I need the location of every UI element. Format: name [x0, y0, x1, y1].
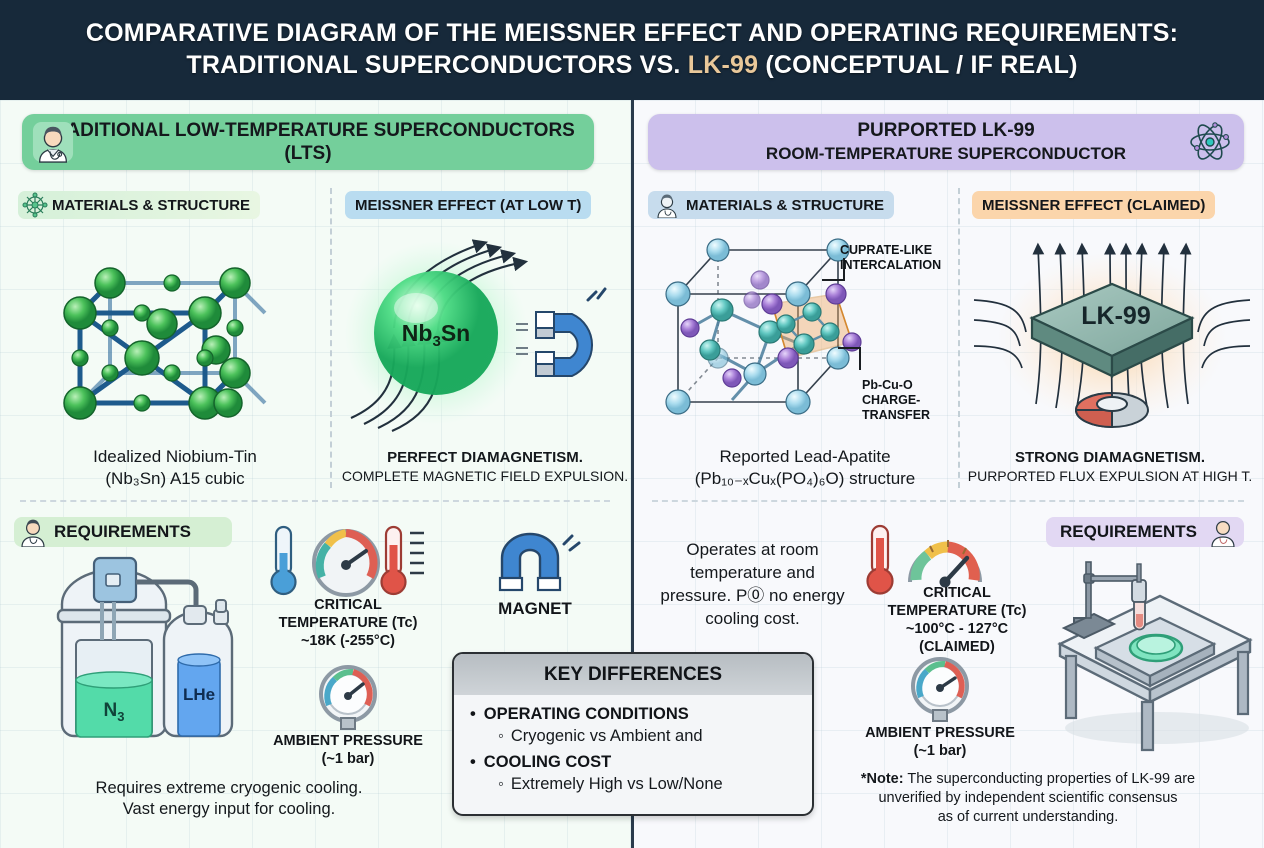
footer-lts: Requires extreme cryogenic cooling. Vast…	[24, 778, 434, 820]
separator-lk99-horizontal	[652, 500, 1244, 502]
thermometer-hot-icon	[382, 527, 425, 594]
badge-lk99-requirements-label: REQUIREMENTS	[1060, 522, 1197, 542]
panel-header-lk99: PURPORTED LK-99 ROOM-TEMPERATURE SUPERCO…	[648, 114, 1244, 170]
metric-lk99-pressure-value: (~1 bar)	[850, 742, 1030, 760]
magnet-icon	[536, 289, 605, 376]
callout-charge-l3: TRANSFER	[862, 408, 950, 423]
metric-lts-pressure-value: (~1 bar)	[258, 750, 438, 768]
key-difference-item: COOLING COST Extremely High vs Low/None	[470, 751, 812, 795]
rt-l1: Operates at room	[650, 538, 855, 561]
callout-cuprate-l1: CUPRATE-LIKE	[840, 243, 950, 258]
key-difference-term: COOLING COST	[470, 751, 812, 773]
caption-lts-meissner-l1: PERFECT DIAMAGNETISM.	[340, 448, 630, 467]
metric-lts-magnet: MAGNET	[480, 600, 590, 618]
callout-cuprate-l2: INTERCALATION	[840, 258, 950, 273]
note-l1: The superconducting properties of LK-99 …	[904, 771, 1196, 787]
panel-header-lk99-line2: ROOM-TEMPERATURE SUPERCONDUCTOR	[766, 142, 1126, 165]
scientist-avatar-icon	[32, 121, 74, 163]
temperature-gauge-icon	[314, 531, 378, 595]
caption-lts-meissner-l2: COMPLETE MAGNETIC FIELD EXPULSION.	[340, 467, 630, 485]
caption-lts-materials-l1: Idealized Niobium-Tin	[30, 446, 320, 468]
panel-header-lk99-line1: PURPORTED LK-99	[766, 119, 1126, 142]
metric-lts-critical-temperature: CRITICAL TEMPERATURE (Tc) ~18K (-255°C)	[258, 596, 438, 650]
metric-lk99-tc-l2: TEMPERATURE (Tc)	[862, 602, 1052, 620]
lk99-meissner-diagram: LK-99	[964, 228, 1260, 443]
badge-lts-meissner: MEISSNER EFFECT (AT LOW T)	[345, 191, 591, 219]
metric-lk99-pressure-label: AMBIENT PRESSURE	[850, 724, 1030, 742]
badge-lk99-meissner: MEISSNER EFFECT (CLAIMED)	[972, 191, 1215, 219]
footer-lts-l1: Requires extreme cryogenic cooling.	[24, 778, 434, 799]
caption-lts-meissner: PERFECT DIAMAGNETISM. COMPLETE MAGNETIC …	[340, 448, 630, 485]
caption-lk99-meissner-l1: STRONG DIAMAGNETISM.	[962, 448, 1258, 467]
key-difference-detail: Extremely High vs Low/None	[470, 773, 812, 795]
title-line-2-suffix: (CONCEPTUAL / IF REAL)	[758, 51, 1077, 79]
caption-lk99-meissner-l2: PURPORTED FLUX EXPULSION AT HIGH T.	[962, 467, 1258, 485]
caption-lts-materials-l2: (Nb₃Sn) A15 cubic	[30, 468, 320, 490]
metric-lts-tc-value: ~18K (-255°C)	[258, 632, 438, 650]
key-difference-term: OPERATING CONDITIONS	[470, 703, 812, 725]
badge-lts-materials: MATERIALS & STRUCTURE	[18, 191, 260, 219]
key-differences-title: KEY DIFFERENCES	[454, 654, 812, 695]
callout-charge-l1: Pb-Cu-O	[862, 378, 950, 393]
dewar-he-label: LHe	[183, 685, 215, 704]
footer-lk99-note: *Note: The superconducting properties of…	[828, 770, 1228, 827]
metric-lts-pressure-label: AMBIENT PRESSURE	[258, 732, 438, 750]
key-difference-item: OPERATING CONDITIONS Cryogenic vs Ambien…	[470, 703, 812, 747]
note-l2: unverified by independent scientific con…	[828, 789, 1228, 808]
badge-lk99-materials: MATERIALS & STRUCTURE	[648, 191, 894, 219]
callout-charge-transfer: Pb-Cu-O CHARGE- TRANSFER	[862, 378, 950, 423]
separator-lts-horizontal	[20, 500, 610, 502]
cryostat-dewar-diagram: N3 LHe	[28, 548, 248, 763]
metric-lts-magnet-label: MAGNET	[480, 600, 590, 618]
panel-header-lk99-title: PURPORTED LK-99 ROOM-TEMPERATURE SUPERCO…	[766, 119, 1126, 165]
infographic-root: COMPARATIVE DIAGRAM OF THE MEISSNER EFFE…	[0, 0, 1264, 848]
separator-lk99-vertical	[958, 188, 960, 488]
footer-lts-l2: Vast energy input for cooling.	[24, 799, 434, 820]
page-title-bar: COMPARATIVE DIAGRAM OF THE MEISSNER EFFE…	[0, 0, 1264, 100]
badge-lk99-requirements: REQUIREMENTS	[1046, 517, 1244, 547]
badge-lts-requirements: REQUIREMENTS	[14, 517, 232, 547]
caption-lk99-materials: Reported Lead-Apatite (Pb₁₀₋ₓCuₓ(PO₄)₆O)…	[652, 446, 958, 490]
svg-text:LK-99: LK-99	[1081, 302, 1150, 330]
ring-magnet-icon	[1076, 393, 1148, 427]
metric-lk99-critical-temperature: CRITICAL TEMPERATURE (Tc) ~100°C - 127°C…	[862, 584, 1052, 656]
rt-l2: temperature and	[650, 561, 855, 584]
molecule-icon	[22, 192, 48, 218]
scientist-avatar-icon	[18, 517, 48, 547]
metric-lk99-tc-l1: CRITICAL	[862, 584, 1052, 602]
rt-l3: pressure. P⓪ no energy	[650, 584, 855, 607]
rt-l4: cooling cost.	[650, 607, 855, 630]
lab-bench-diagram	[1052, 552, 1258, 752]
panel-header-lts-title: TRADITIONAL LOW-TEMPERATURE SUPERCONDUCT…	[22, 119, 594, 165]
pressure-gauge-icon	[313, 664, 383, 730]
text-lk99-room-temperature: Operates at room temperature and pressur…	[650, 538, 855, 630]
badge-lk99-materials-label: MATERIALS & STRUCTURE	[686, 197, 884, 214]
nb3sn-lattice-diagram	[40, 228, 320, 443]
scientist-avatar-icon	[654, 192, 680, 218]
caption-lts-materials: Idealized Niobium-Tin (Nb₃Sn) A15 cubic	[30, 446, 320, 490]
caption-lk99-materials-l1: Reported Lead-Apatite	[652, 446, 958, 468]
atom-icon	[1188, 120, 1232, 164]
temperature-gauge-icon	[910, 540, 980, 588]
metric-lts-tc-l1: CRITICAL	[258, 596, 438, 614]
key-difference-detail: Cryogenic vs Ambient and	[470, 725, 812, 747]
scientist-avatar-icon	[1208, 517, 1238, 547]
metric-lk99-tc-claimed: (CLAIMED)	[862, 638, 1052, 656]
title-line-2-prefix: TRADITIONAL SUPERCONDUCTORS VS.	[186, 51, 687, 79]
badge-lts-meissner-label: MEISSNER EFFECT (AT LOW T)	[355, 197, 581, 214]
thermometer-cold-icon	[272, 527, 296, 594]
key-differences-list: OPERATING CONDITIONS Cryogenic vs Ambien…	[454, 695, 812, 795]
title-line-1: COMPARATIVE DIAGRAM OF THE MEISSNER EFFE…	[86, 18, 1178, 49]
caption-lk99-meissner: STRONG DIAMAGNETISM. PURPORTED FLUX EXPU…	[962, 448, 1258, 485]
title-lk99-highlight: LK-99	[688, 51, 758, 79]
metric-lk99-tc-value: ~100°C - 127°C	[862, 620, 1052, 638]
badge-lk99-meissner-label: MEISSNER EFFECT (CLAIMED)	[982, 197, 1205, 214]
critical-temperature-icons-lts	[266, 525, 426, 601]
caption-lk99-materials-l2: (Pb₁₀₋ₓCuₓ(PO₄)₆O) structure	[652, 468, 958, 490]
meissner-sphere-diagram: Nb3Sn	[336, 228, 626, 443]
note-bold-prefix: *Note:	[861, 771, 904, 787]
pressure-gauge-icon	[905, 656, 975, 722]
callout-charge-l2: CHARGE-	[862, 393, 950, 408]
separator-lts-vertical	[330, 188, 332, 488]
badge-lts-materials-label: MATERIALS & STRUCTURE	[52, 197, 250, 214]
metric-lts-pressure: AMBIENT PRESSURE (~1 bar)	[258, 732, 438, 768]
magnet-icon	[488, 528, 584, 592]
panel-header-lts: TRADITIONAL LOW-TEMPERATURE SUPERCONDUCT…	[22, 114, 594, 170]
title-line-2: TRADITIONAL SUPERCONDUCTORS VS. LK-99 (C…	[186, 49, 1077, 82]
note-line-1: *Note: The superconducting properties of…	[828, 770, 1228, 789]
callout-cuprate-intercalation: CUPRATE-LIKE INTERCALATION	[840, 243, 950, 273]
key-differences-box: KEY DIFFERENCES OPERATING CONDITIONS Cry…	[452, 652, 814, 816]
note-l3: as of current understanding.	[828, 808, 1228, 827]
badge-lts-requirements-label: REQUIREMENTS	[54, 522, 191, 542]
metric-lts-tc-l2: TEMPERATURE (Tc)	[258, 614, 438, 632]
metric-lk99-pressure: AMBIENT PRESSURE (~1 bar)	[850, 724, 1030, 760]
